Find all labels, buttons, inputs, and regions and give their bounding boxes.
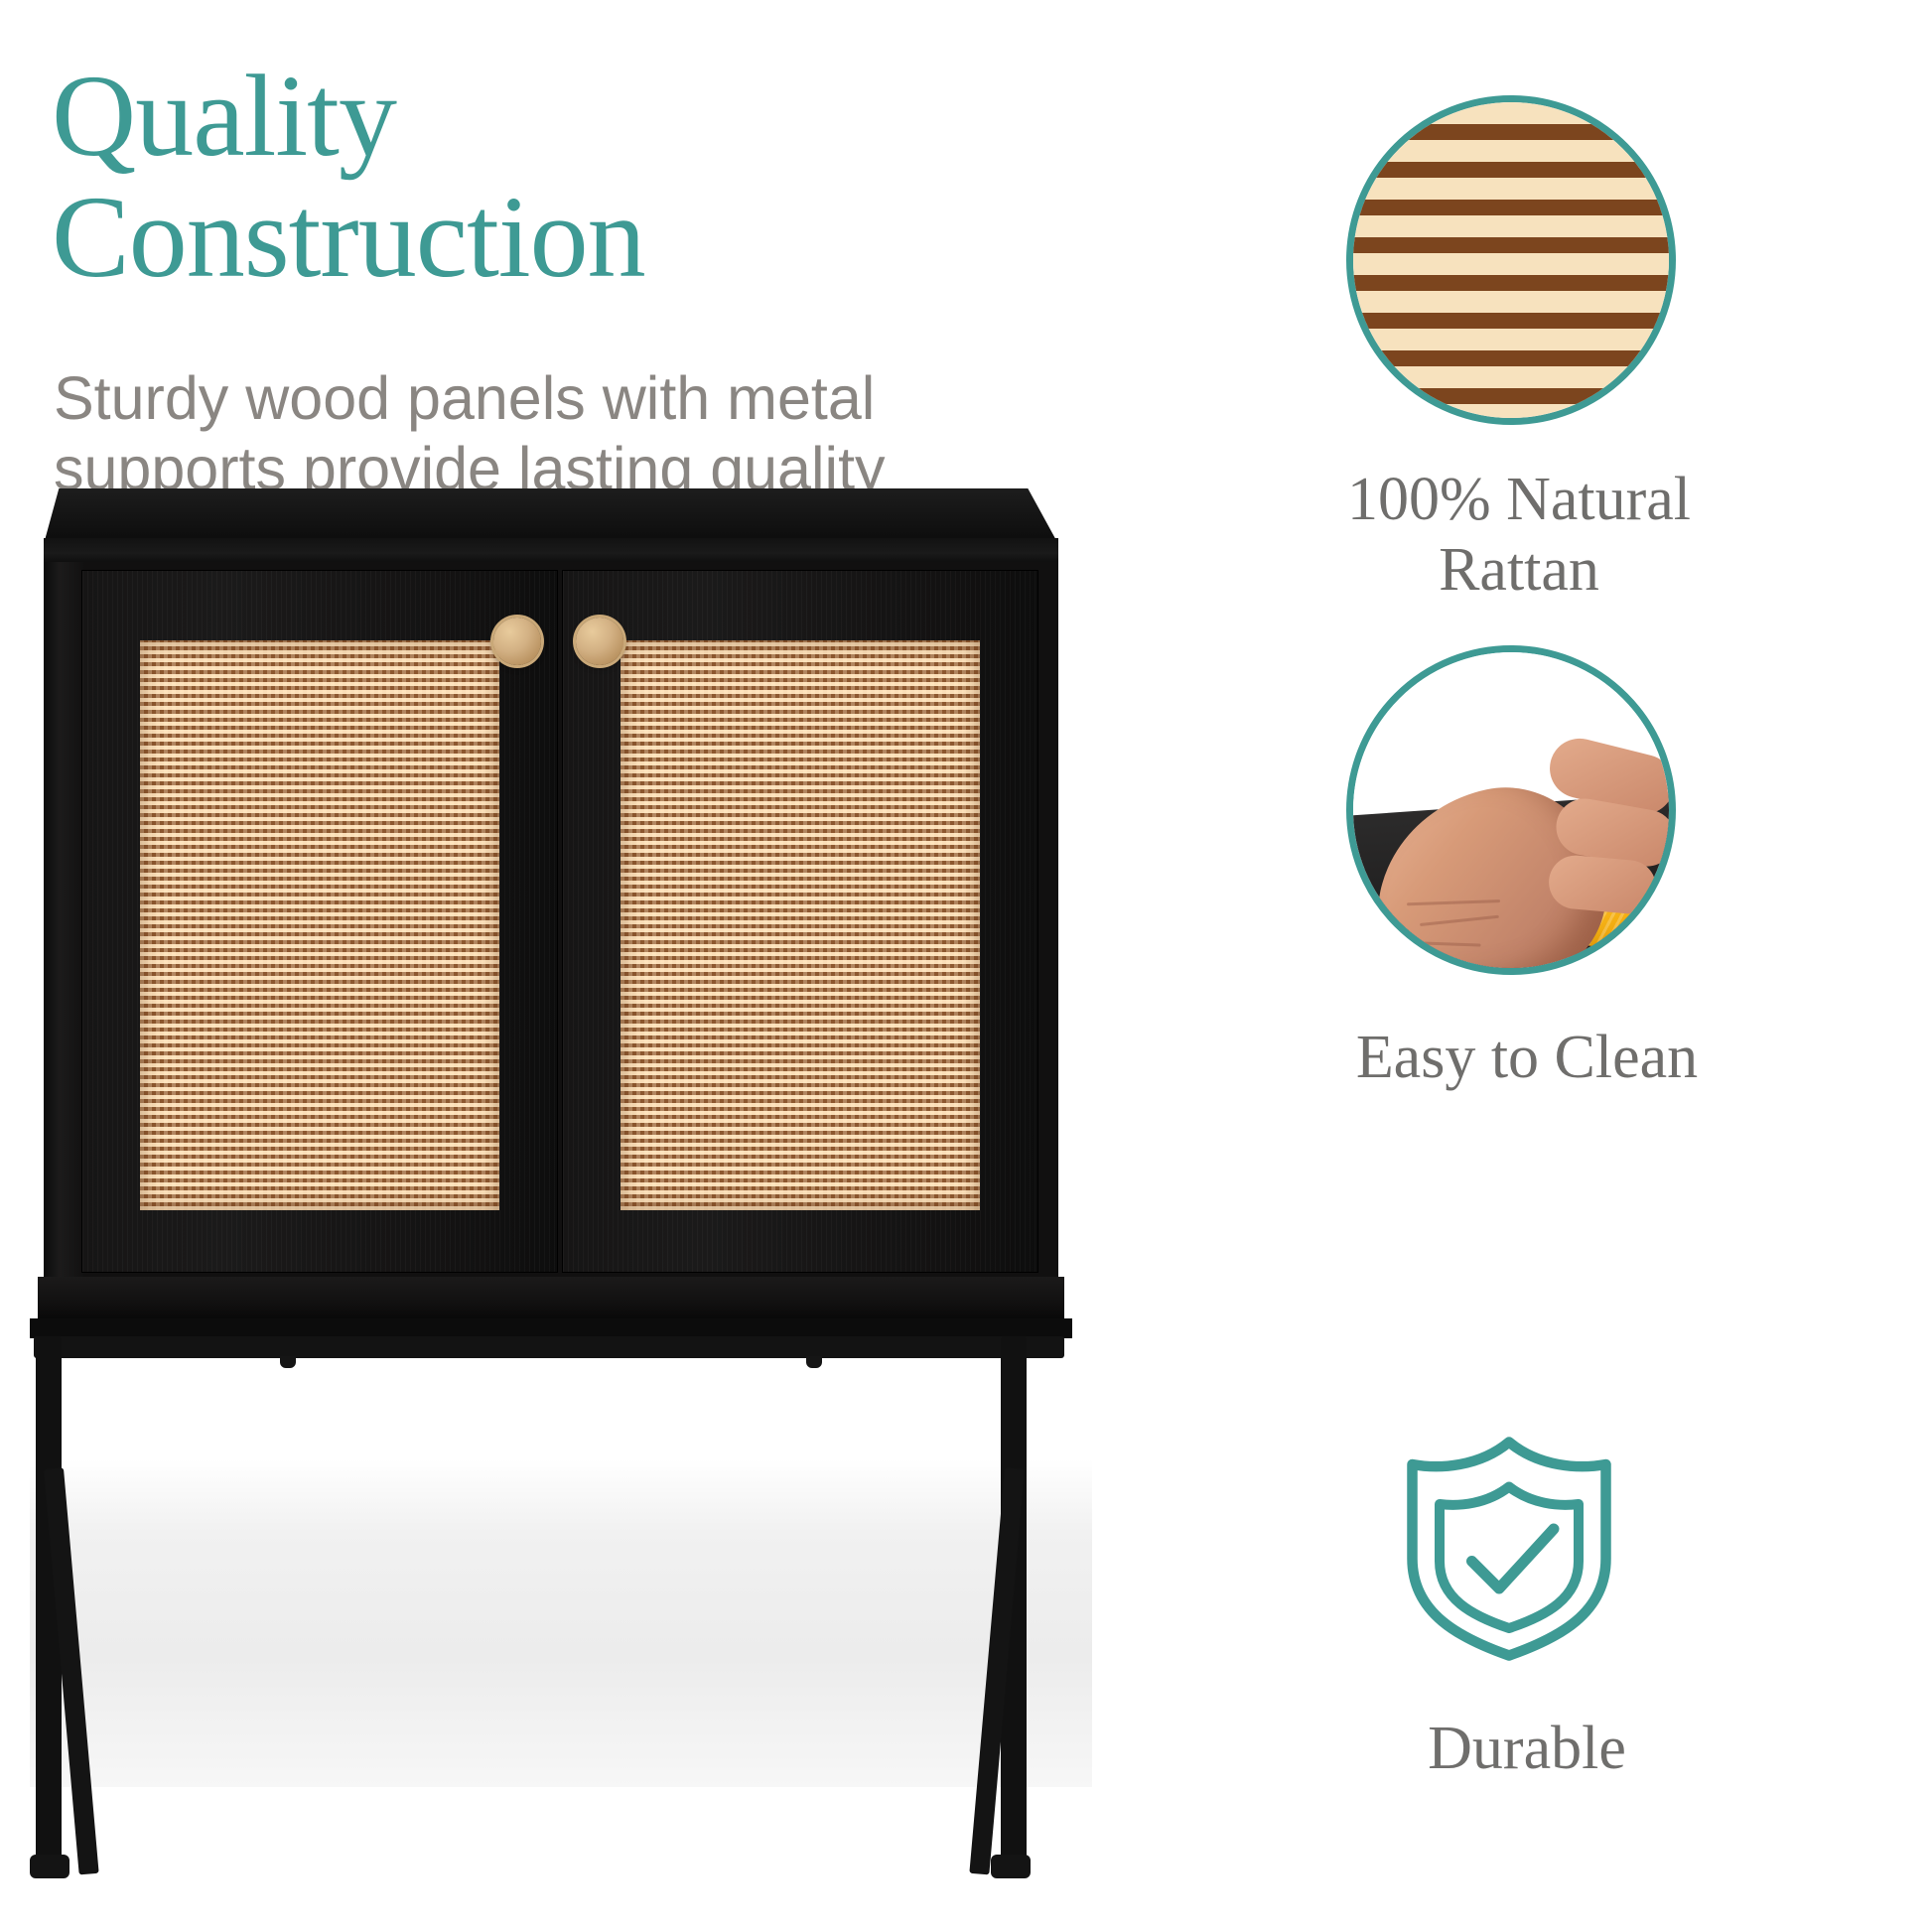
hand-wiping-cloth-icon xyxy=(1346,645,1676,975)
finger xyxy=(1547,853,1658,915)
hand-vein xyxy=(1407,898,1500,904)
subtitle-line-1: Sturdy wood panels with metal xyxy=(54,364,875,432)
feature-durable: Durable xyxy=(1122,1420,1896,1784)
feature-easy-to-clean: Easy to Clean xyxy=(1122,645,1896,1093)
feature-caption-durable: Durable xyxy=(1179,1714,1874,1784)
shield-check-icon xyxy=(1385,1420,1633,1668)
cabinet-base-lip xyxy=(30,1318,1072,1338)
caption-line-2: Rattan xyxy=(1241,535,1797,606)
cabinet-side-panel xyxy=(44,562,83,1277)
caption-line-1: Easy to Clean xyxy=(1356,1024,1698,1091)
frame-nub-left xyxy=(280,1356,296,1368)
rattan-weave-closeup-icon xyxy=(1346,95,1676,425)
page-title: Quality Construction xyxy=(52,56,945,297)
cabinet-base-rail xyxy=(38,1277,1064,1322)
floor-shadow xyxy=(30,1459,1092,1787)
headline-line-2: Construction xyxy=(52,177,945,298)
feature-natural-rattan: 100% Natural Rattan xyxy=(1122,95,1896,605)
cabinet-top-panel xyxy=(44,488,1058,544)
hand-vein xyxy=(1420,915,1499,926)
cabinet-knob-right xyxy=(576,618,623,665)
hand-vein xyxy=(1411,941,1481,946)
caption-line-1: 100% Natural xyxy=(1347,466,1691,533)
rattan-panel-right xyxy=(621,640,980,1210)
cabinet-door-right xyxy=(562,570,1038,1273)
feature-caption-easy-to-clean: Easy to Clean xyxy=(1179,1023,1874,1093)
feature-caption-natural-rattan: 100% Natural Rattan xyxy=(1241,465,1797,605)
cabinet-knob-left xyxy=(493,618,541,665)
rattan-weave-texture xyxy=(1346,95,1676,425)
metal-frame-rail xyxy=(34,1336,1064,1358)
frame-nub-right xyxy=(806,1356,822,1368)
caption-line-1: Durable xyxy=(1428,1715,1626,1782)
metal-foot-right xyxy=(991,1855,1031,1878)
cleaning-photo xyxy=(1353,652,1669,968)
product-image-cabinet xyxy=(0,467,1112,1926)
cabinet-door-left xyxy=(81,570,558,1273)
infographic-canvas: Quality Construction Sturdy wood panels … xyxy=(0,0,1932,1932)
headline-line-1: Quality xyxy=(52,51,396,181)
metal-foot-left xyxy=(30,1855,69,1878)
rattan-panel-left xyxy=(140,640,499,1210)
